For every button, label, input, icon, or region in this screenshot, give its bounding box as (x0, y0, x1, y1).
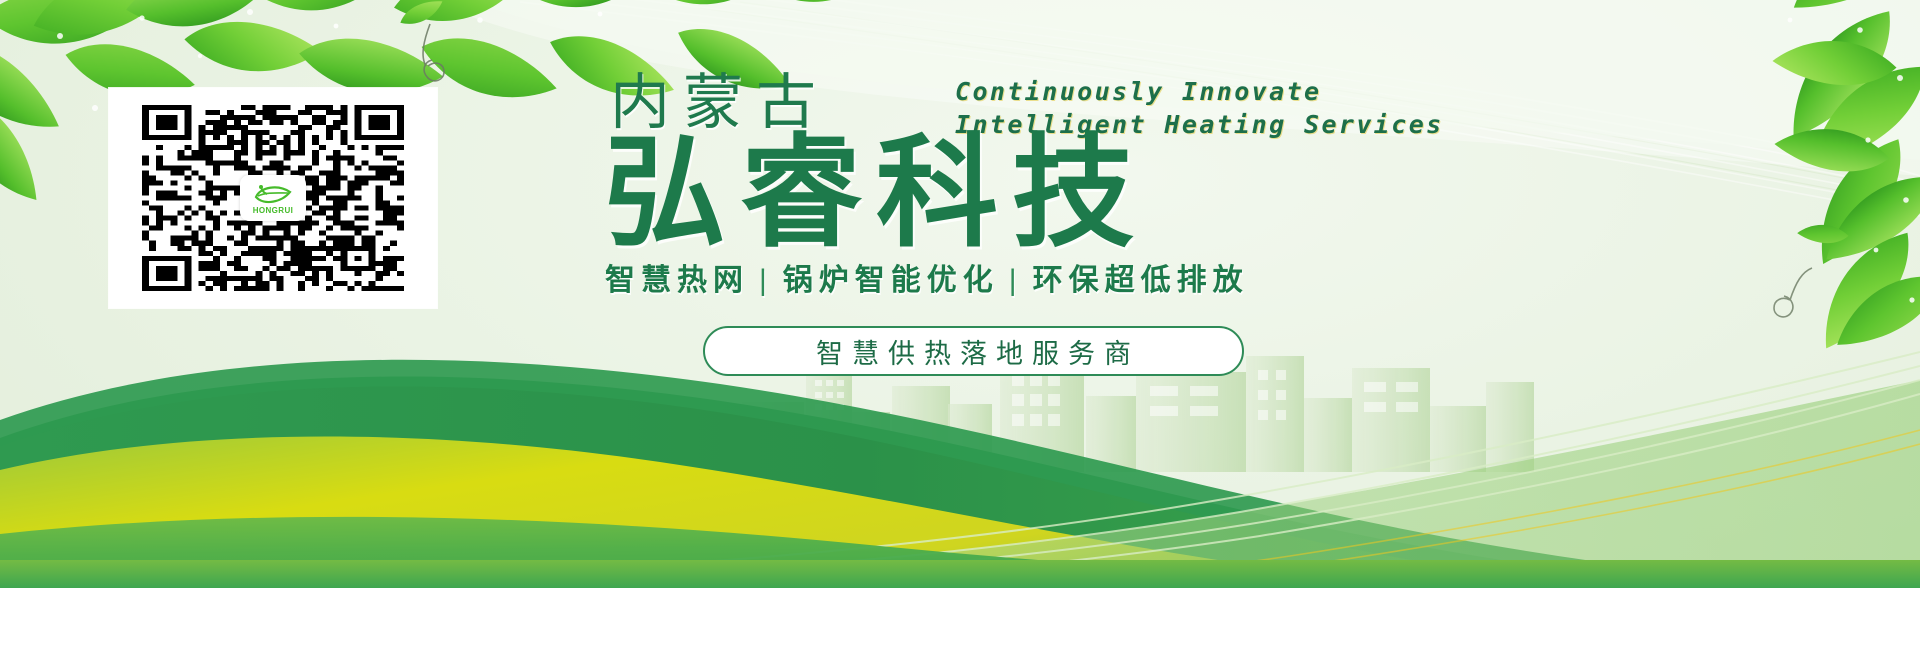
positioning-badge: 智慧供热落地服务商 (703, 326, 1244, 376)
region-name: 内蒙古 (610, 73, 829, 133)
banner-stage: HONGRUI 内蒙古 Continuously Innovate Intell… (0, 0, 1920, 659)
positioning-badge-text: 智慧供热落地服务商 (807, 332, 1140, 371)
slogan-separator-1: | (759, 266, 767, 296)
slogan-item-1: 智慧热网 (605, 266, 749, 296)
slogan-item-3: 环保超低排放 (1033, 266, 1249, 296)
banner-text-block: 内蒙古 Continuously Innovate Intelligent He… (0, 0, 1920, 588)
slogan-item-2: 锅炉智能优化 (783, 266, 999, 296)
english-tagline-line1: Continuously Innovate (955, 78, 1444, 106)
service-slogan-list: 智慧热网 | 锅炉智能优化 | 环保超低排放 (605, 266, 1249, 296)
slogan-separator-2: | (1009, 266, 1017, 296)
page-background-strip (0, 588, 1920, 659)
company-name: 弘睿科技 (604, 132, 1148, 254)
company-banner: HONGRUI 内蒙古 Continuously Innovate Intell… (0, 0, 1920, 588)
